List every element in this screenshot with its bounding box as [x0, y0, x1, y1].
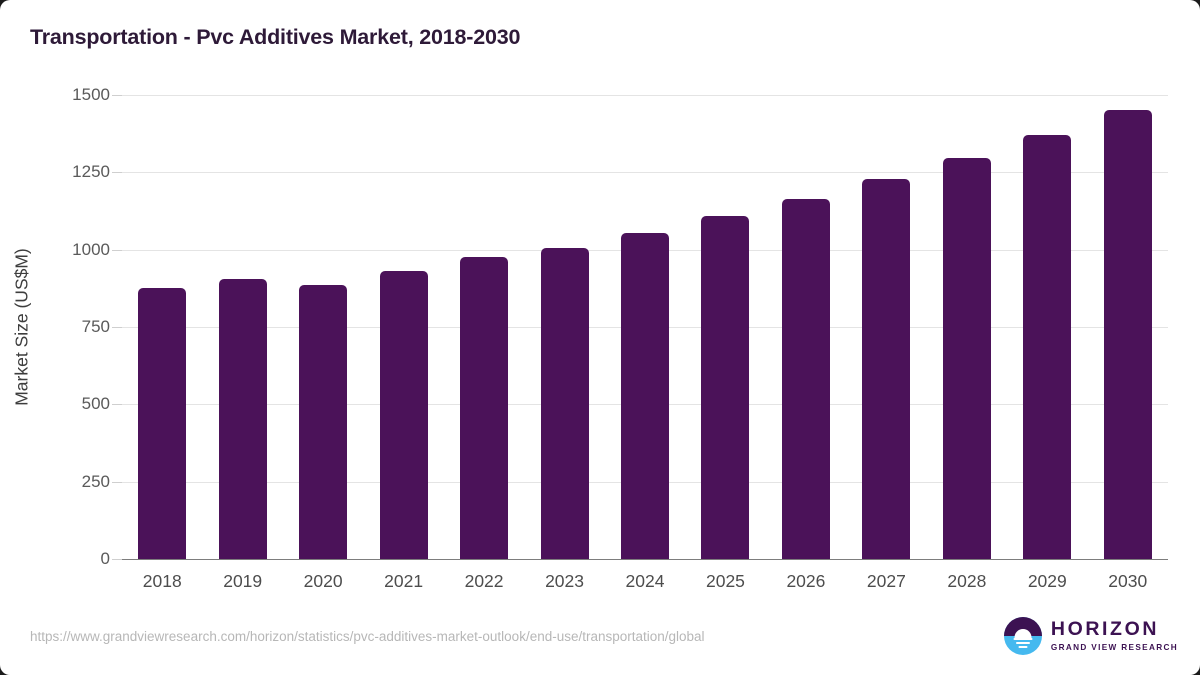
logo-tagline: GRAND VIEW RESEARCH: [1051, 644, 1178, 652]
y-tick-label: 1000: [0, 240, 110, 260]
y-tick-mark: [112, 250, 122, 251]
chart-title: Transportation - Pvc Additives Market, 2…: [30, 25, 520, 50]
x-tick-label: 2028: [922, 571, 1012, 592]
bar[interactable]: [1023, 135, 1071, 559]
y-tick-mark: [112, 559, 122, 560]
y-tick-mark: [112, 327, 122, 328]
horizon-logo-icon: [1004, 617, 1042, 655]
x-tick-label: 2023: [520, 571, 610, 592]
y-tick-label: 1250: [0, 162, 110, 182]
bar[interactable]: [943, 158, 991, 559]
bar[interactable]: [701, 216, 749, 559]
y-tick-mark: [112, 95, 122, 96]
x-tick-label: 2018: [117, 571, 207, 592]
gridline: [122, 559, 1168, 560]
y-tick-label: 1500: [0, 85, 110, 105]
y-tick-label: 750: [0, 317, 110, 337]
y-tick-mark: [112, 482, 122, 483]
logo-text: HORIZON GRAND VIEW RESEARCH: [1051, 620, 1178, 652]
bar[interactable]: [138, 288, 186, 559]
y-tick-label: 250: [0, 472, 110, 492]
plot-area: [122, 95, 1168, 559]
bar[interactable]: [380, 271, 428, 559]
x-tick-label: 2027: [841, 571, 931, 592]
x-tick-label: 2030: [1083, 571, 1173, 592]
bar[interactable]: [460, 257, 508, 559]
logo-wordmark: HORIZON: [1051, 620, 1178, 640]
y-tick-mark: [112, 404, 122, 405]
y-tick-mark: [112, 172, 122, 173]
bar[interactable]: [219, 279, 267, 559]
x-tick-label: 2029: [1002, 571, 1092, 592]
x-tick-label: 2021: [359, 571, 449, 592]
bar[interactable]: [862, 179, 910, 559]
chart-canvas: Transportation - Pvc Additives Market, 2…: [0, 0, 1200, 675]
x-tick-label: 2022: [439, 571, 529, 592]
x-tick-label: 2024: [600, 571, 690, 592]
bar[interactable]: [621, 233, 669, 559]
x-tick-label: 2020: [278, 571, 368, 592]
bar[interactable]: [299, 285, 347, 559]
y-tick-label: 500: [0, 394, 110, 414]
x-tick-label: 2025: [680, 571, 770, 592]
x-tick-label: 2026: [761, 571, 851, 592]
x-tick-label: 2019: [198, 571, 288, 592]
horizon-logo[interactable]: HORIZON GRAND VIEW RESEARCH: [1004, 617, 1178, 655]
bars-group: [122, 95, 1168, 559]
y-tick-label: 0: [0, 549, 110, 569]
source-url[interactable]: https://www.grandviewresearch.com/horizo…: [30, 629, 705, 644]
bar[interactable]: [782, 199, 830, 559]
bar[interactable]: [541, 248, 589, 559]
bar[interactable]: [1104, 110, 1152, 559]
